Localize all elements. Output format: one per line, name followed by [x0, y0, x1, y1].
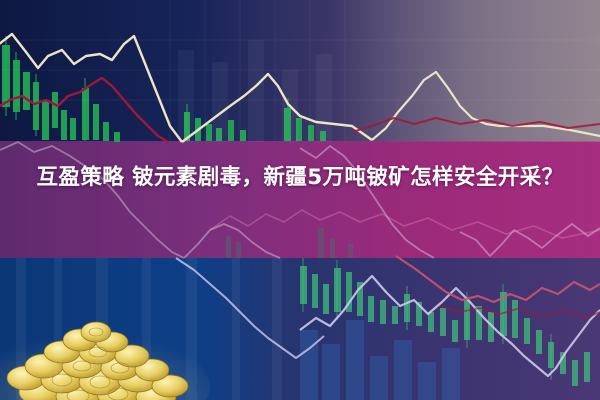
page-title: 互盈策略 铍元素剧毒，新疆5万吨铍矿怎样安全开采？	[0, 160, 600, 196]
article-cover-banner: 互盈策略 铍元素剧毒，新疆5万吨铍矿怎样安全开采？	[0, 0, 600, 400]
headline-text: 互盈策略 铍元素剧毒，新疆5万吨铍矿怎样安全开采？	[8, 160, 592, 196]
vertical-light-streaks	[0, 0, 600, 400]
